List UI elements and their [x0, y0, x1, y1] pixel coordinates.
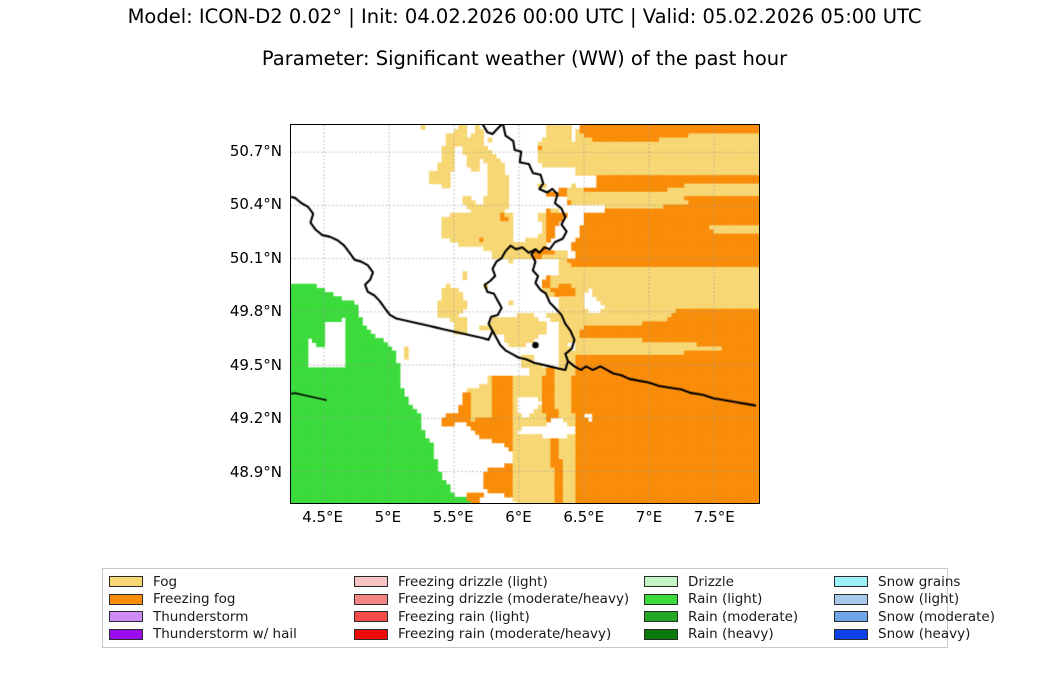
legend-item-label: Thunderstorm w/ hail: [153, 627, 297, 641]
weather-map-plot[interactable]: [290, 124, 760, 504]
legend-color-swatch: [834, 576, 868, 587]
legend-item-label: Snow (moderate): [878, 610, 995, 624]
x-tick-label: 5.5°E: [433, 508, 474, 526]
legend-color-swatch: [644, 611, 678, 622]
y-tick-label: 50.1°N: [212, 251, 282, 266]
x-tick-label: 7.5°E: [694, 508, 735, 526]
legend-color-swatch: [109, 576, 143, 587]
legend: FogFreezing fogThunderstormThunderstorm …: [102, 568, 948, 648]
legend-item[interactable]: Freezing fog: [109, 591, 354, 608]
legend-item-label: Thunderstorm: [153, 610, 248, 624]
legend-color-swatch: [644, 576, 678, 587]
legend-item[interactable]: Freezing drizzle (light): [354, 573, 644, 590]
legend-item[interactable]: Thunderstorm: [109, 608, 354, 625]
legend-item-label: Freezing rain (moderate/heavy): [398, 627, 611, 641]
legend-color-swatch: [354, 576, 388, 587]
page-title-main: Model: ICON-D2 0.02° | Init: 04.02.2026 …: [0, 5, 1049, 28]
legend-item[interactable]: Snow grains: [834, 573, 1024, 590]
legend-item[interactable]: Rain (heavy): [644, 626, 834, 643]
legend-item[interactable]: Snow (moderate): [834, 608, 1024, 625]
legend-color-swatch: [354, 594, 388, 605]
weather-map-canvas[interactable]: [291, 125, 759, 503]
legend-item-label: Freezing drizzle (moderate/heavy): [398, 592, 629, 606]
legend-color-swatch: [354, 611, 388, 622]
legend-color-swatch: [109, 611, 143, 622]
y-tick-label: 49.5°N: [212, 358, 282, 373]
legend-item[interactable]: Rain (moderate): [644, 608, 834, 625]
y-tick-label: 49.8°N: [212, 304, 282, 319]
y-tick-label: 48.9°N: [212, 465, 282, 480]
y-tick-label: 49.2°N: [212, 411, 282, 426]
legend-color-swatch: [644, 594, 678, 605]
legend-grid: FogFreezing fogThunderstormThunderstorm …: [103, 569, 947, 647]
legend-item-label: Snow (light): [878, 592, 959, 606]
legend-item[interactable]: Snow (light): [834, 591, 1024, 608]
x-axis-labels: 4.5°E5°E5.5°E6°E6.5°E7°E7.5°E: [290, 508, 760, 534]
legend-color-swatch: [109, 594, 143, 605]
legend-color-swatch: [354, 629, 388, 640]
legend-item-label: Fog: [153, 575, 177, 589]
page-title-parameter: Parameter: Significant weather (WW) of t…: [0, 47, 1049, 70]
legend-item-label: Rain (light): [688, 592, 762, 606]
legend-item[interactable]: Freezing rain (moderate/heavy): [354, 626, 644, 643]
legend-item-label: Freezing fog: [153, 592, 235, 606]
legend-item-label: Rain (heavy): [688, 627, 774, 641]
x-tick-label: 6.5°E: [563, 508, 604, 526]
legend-item-label: Drizzle: [688, 575, 734, 589]
legend-item[interactable]: Rain (light): [644, 591, 834, 608]
legend-item[interactable]: Freezing rain (light): [354, 608, 644, 625]
legend-color-swatch: [834, 594, 868, 605]
y-tick-label: 50.4°N: [212, 197, 282, 212]
x-tick-label: 7°E: [636, 508, 663, 526]
legend-item-label: Freezing rain (light): [398, 610, 530, 624]
legend-item[interactable]: Freezing drizzle (moderate/heavy): [354, 591, 644, 608]
legend-item[interactable]: Snow (heavy): [834, 626, 1024, 643]
legend-item-label: Snow (heavy): [878, 627, 970, 641]
x-tick-label: 6°E: [505, 508, 532, 526]
legend-color-swatch: [834, 611, 868, 622]
legend-color-swatch: [834, 629, 868, 640]
legend-item[interactable]: Thunderstorm w/ hail: [109, 626, 354, 643]
y-axis-labels: 50.7°N50.4°N50.1°N49.8°N49.5°N49.2°N48.9…: [210, 124, 282, 504]
x-tick-label: 5°E: [375, 508, 402, 526]
x-tick-label: 4.5°E: [302, 508, 343, 526]
y-tick-label: 50.7°N: [212, 144, 282, 159]
legend-color-swatch: [109, 629, 143, 640]
legend-color-swatch: [644, 629, 678, 640]
legend-item-label: Freezing drizzle (light): [398, 575, 548, 589]
legend-item[interactable]: Drizzle: [644, 573, 834, 590]
legend-item[interactable]: Fog: [109, 573, 354, 590]
legend-item-label: Rain (moderate): [688, 610, 798, 624]
legend-item-label: Snow grains: [878, 575, 960, 589]
